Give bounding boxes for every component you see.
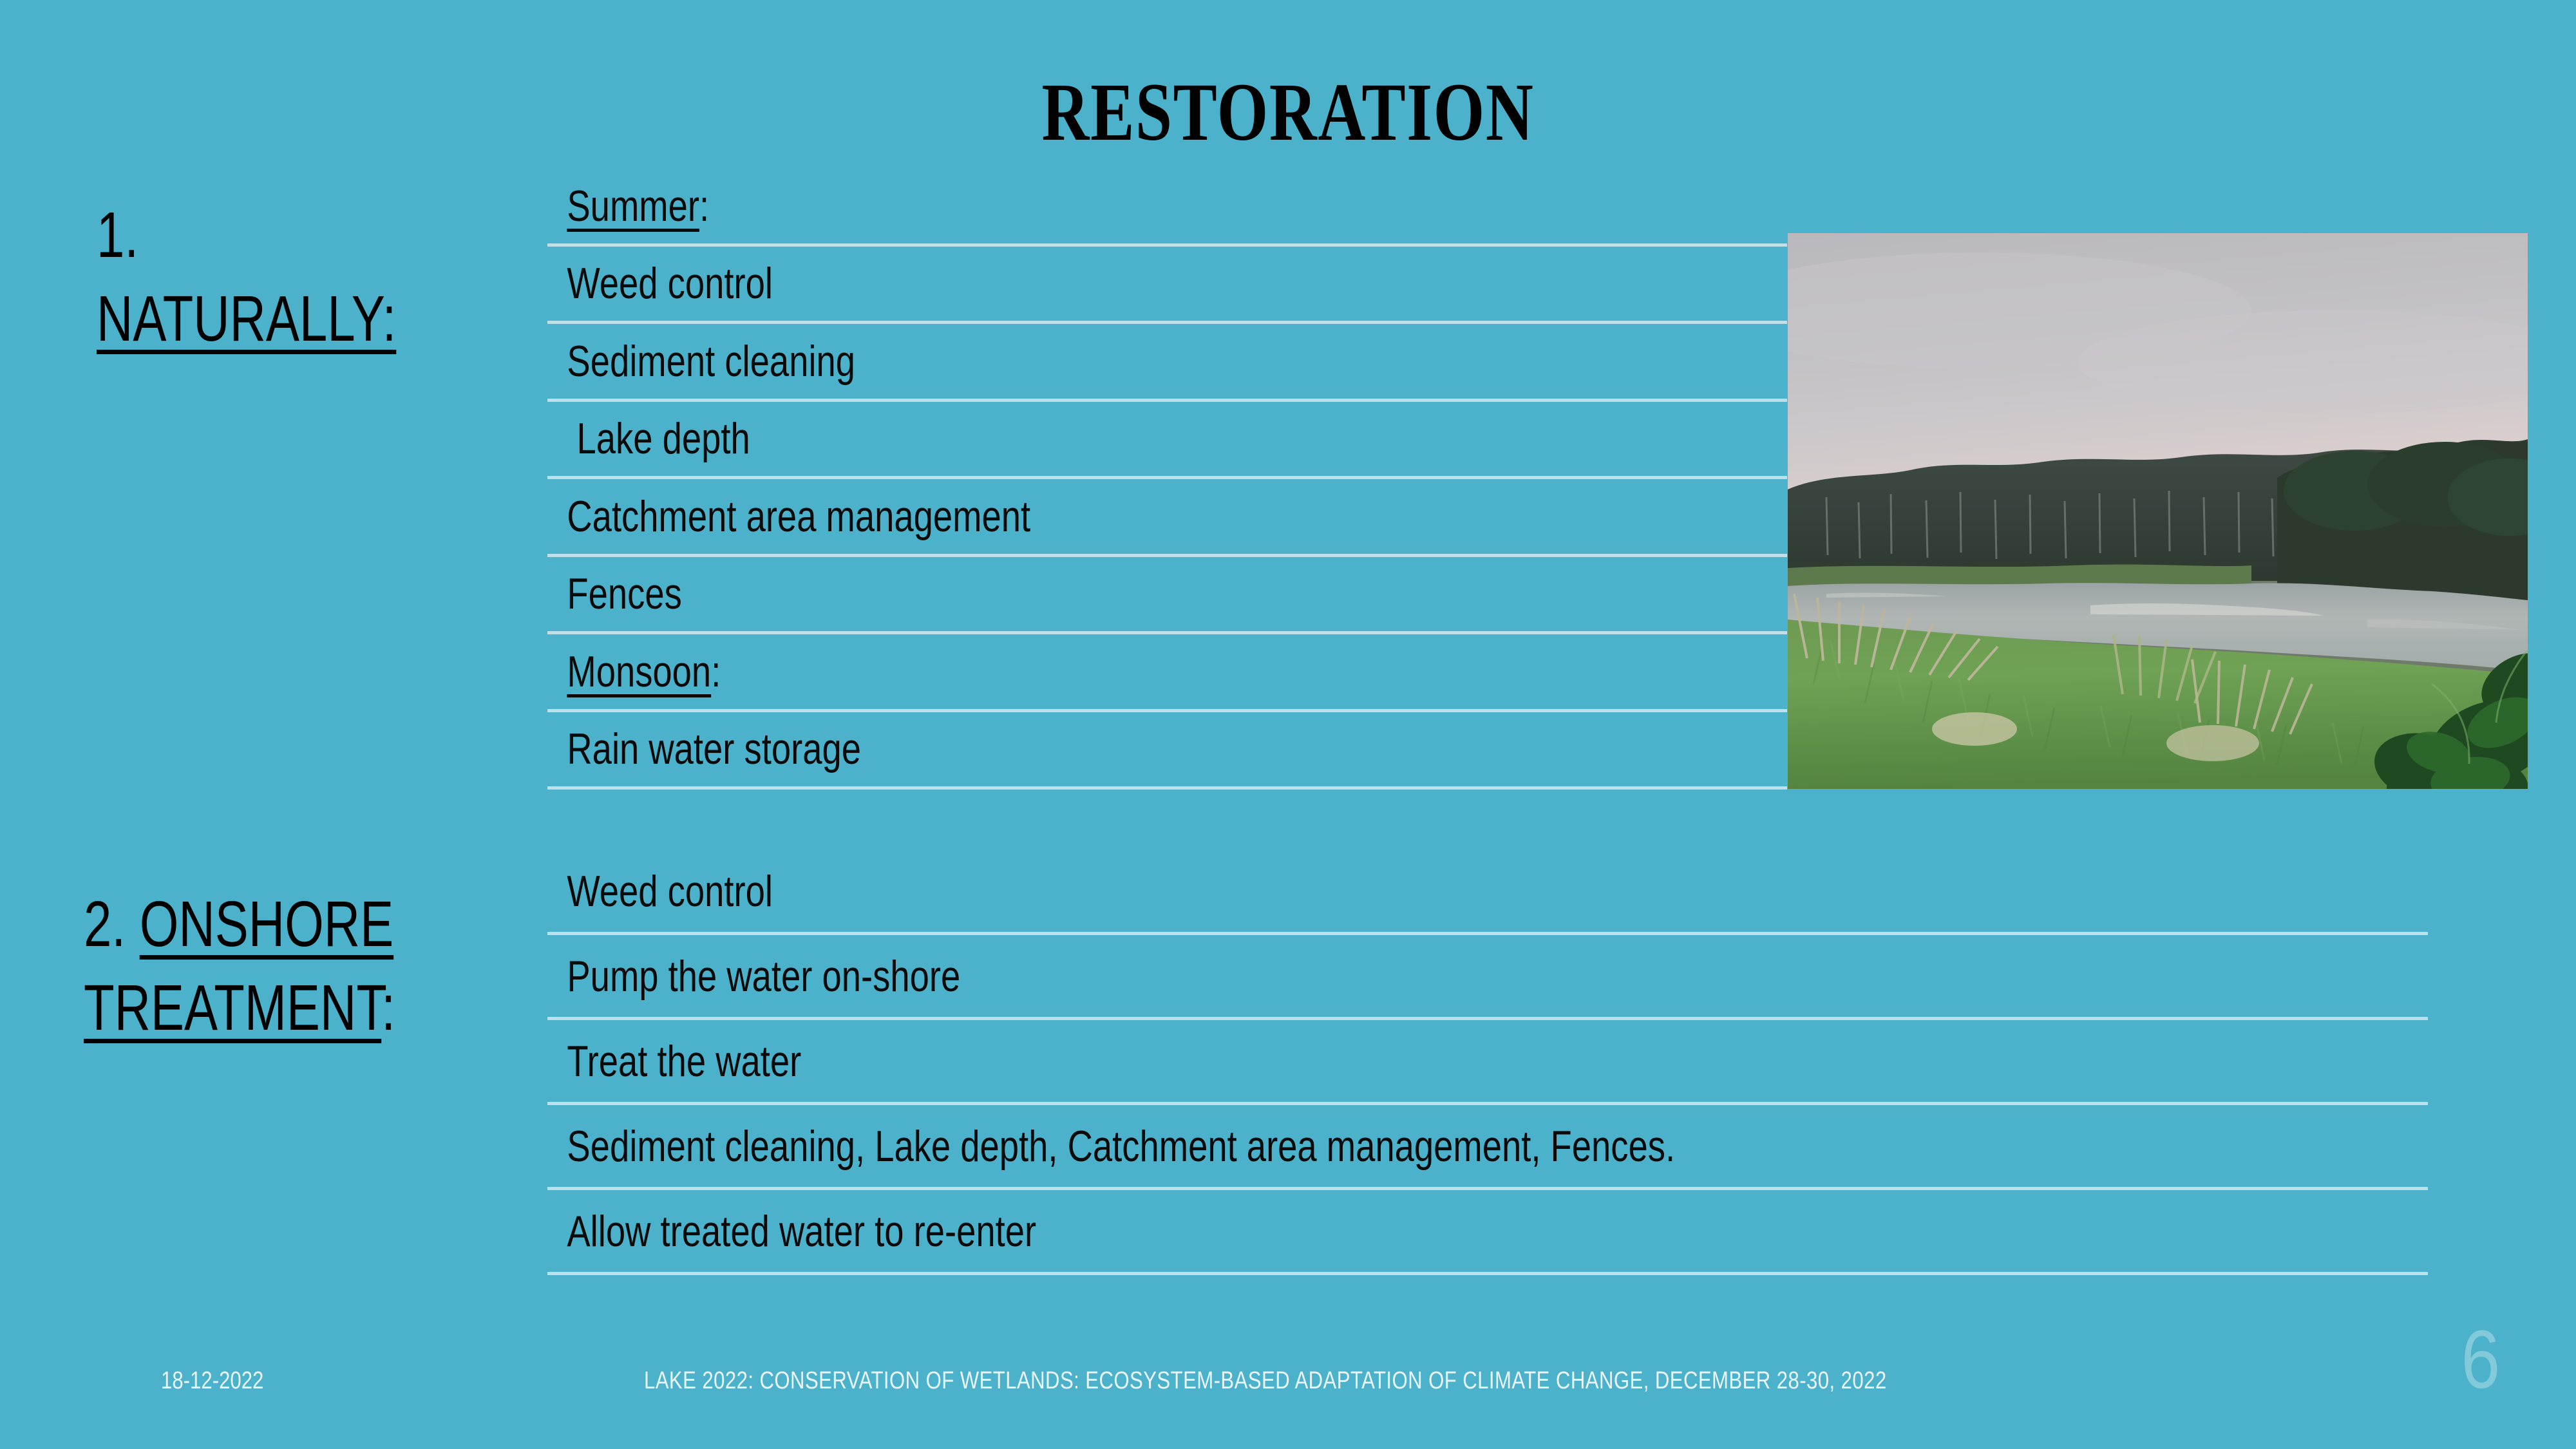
section-1-label: NATURALLY: bbox=[97, 277, 509, 361]
section-2-word-onshore: ONSHORE bbox=[140, 888, 393, 960]
list-item[interactable]: Weed control bbox=[547, 247, 1787, 325]
list-onshore-treatment: Weed control Pump the water on-shore Tre… bbox=[547, 850, 2428, 1275]
list-item-label: Sediment cleaning, Lake depth, Catchment… bbox=[547, 1124, 1675, 1168]
section-2-line1: 2. ONSHORE bbox=[84, 882, 526, 966]
list-item-label: Lake depth bbox=[547, 417, 750, 460]
list-item[interactable]: Rain water storage bbox=[547, 712, 1787, 790]
section-2-line2: TREATMENT: bbox=[84, 966, 526, 1050]
list-naturally: Summer: Weed control Sediment cleaning L… bbox=[547, 169, 1787, 790]
footer-date: 18-12-2022 bbox=[161, 1368, 263, 1393]
list-item-label: Weed control bbox=[547, 869, 773, 913]
list-item[interactable]: Treat the water bbox=[547, 1020, 2428, 1105]
list-item-label: Pump the water on-shore bbox=[547, 954, 960, 998]
list-item[interactable]: Sediment cleaning bbox=[547, 324, 1787, 402]
wetland-photo-graphic bbox=[1788, 233, 2528, 789]
footer-conference-title: LAKE 2022: CONSERVATION OF WETLANDS: ECO… bbox=[644, 1368, 1887, 1393]
wetland-lake-photo bbox=[1788, 233, 2528, 789]
presentation-slide: RESTORATION 1. NATURALLY: Summer: Weed c… bbox=[0, 0, 2576, 1449]
list-item[interactable]: Allow treated water to re-enter bbox=[547, 1190, 2428, 1275]
list-item-label: Treat the water bbox=[547, 1039, 801, 1083]
list-item-label: Fences bbox=[547, 572, 682, 616]
list-item-label: Sediment cleaning bbox=[547, 339, 855, 383]
list-item[interactable]: Fences bbox=[547, 557, 1787, 635]
list-item-label: Summer: bbox=[547, 184, 709, 228]
list-item-label: Catchment area management bbox=[547, 495, 1030, 538]
list-item-label: Weed control bbox=[547, 261, 773, 305]
section-2-colon: : bbox=[381, 972, 395, 1044]
list-item-label: Rain water storage bbox=[547, 727, 861, 771]
list-item[interactable]: Monsoon: bbox=[547, 634, 1787, 712]
list-item-label: Monsoon: bbox=[547, 650, 721, 694]
list-item[interactable]: Catchment area management bbox=[547, 479, 1787, 557]
page-number: 6 bbox=[2461, 1319, 2500, 1401]
section-2-number: 2. bbox=[84, 888, 140, 960]
list-item[interactable]: Summer: bbox=[547, 169, 1787, 247]
list-item[interactable]: Lake depth bbox=[547, 402, 1787, 480]
list-item[interactable]: Pump the water on-shore bbox=[547, 935, 2428, 1020]
list-item-suffix: : bbox=[699, 184, 709, 228]
page-title: RESTORATION bbox=[258, 71, 2318, 153]
section-heading-naturally: 1. NATURALLY: bbox=[97, 193, 509, 361]
list-item-label: Allow treated water to re-enter bbox=[547, 1209, 1036, 1253]
section-1-number: 1. bbox=[97, 193, 509, 277]
section-heading-onshore: 2. ONSHORE TREATMENT: bbox=[84, 882, 526, 1050]
list-item-suffix: : bbox=[711, 650, 721, 694]
list-item[interactable]: Weed control bbox=[547, 850, 2428, 935]
section-2-word-treatment: TREATMENT bbox=[84, 972, 381, 1044]
list-item[interactable]: Sediment cleaning, Lake depth, Catchment… bbox=[547, 1105, 2428, 1190]
